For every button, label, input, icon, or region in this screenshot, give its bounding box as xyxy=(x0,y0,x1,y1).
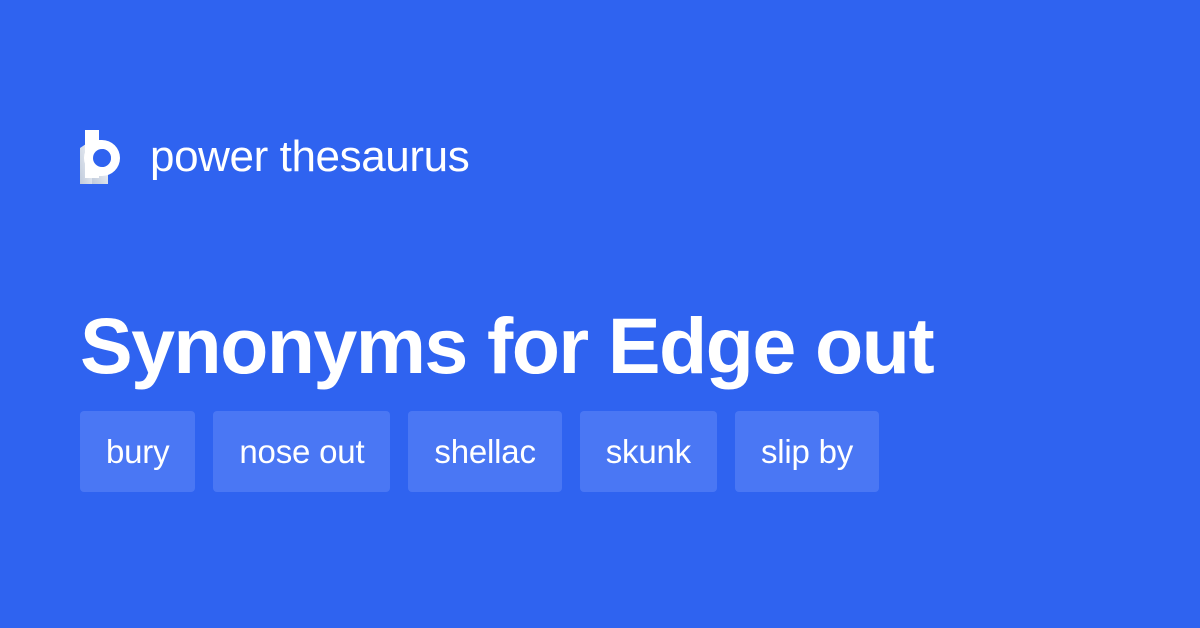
synonym-chip[interactable]: nose out xyxy=(213,411,390,492)
power-thesaurus-b-logo-icon xyxy=(80,130,126,184)
page-title: Synonyms for Edge out xyxy=(80,300,1120,392)
synonym-chip-list: bury nose out shellac skunk slip by xyxy=(80,411,879,492)
synonym-chip[interactable]: slip by xyxy=(735,411,879,492)
brand-name: power thesaurus xyxy=(150,130,469,184)
brand-logo[interactable]: power thesaurus xyxy=(80,126,469,188)
synonym-chip[interactable]: shellac xyxy=(408,411,561,492)
synonym-chip[interactable]: bury xyxy=(80,411,195,492)
synonym-chip[interactable]: skunk xyxy=(580,411,717,492)
share-card: power thesaurus Synonyms for Edge out bu… xyxy=(0,0,1200,628)
